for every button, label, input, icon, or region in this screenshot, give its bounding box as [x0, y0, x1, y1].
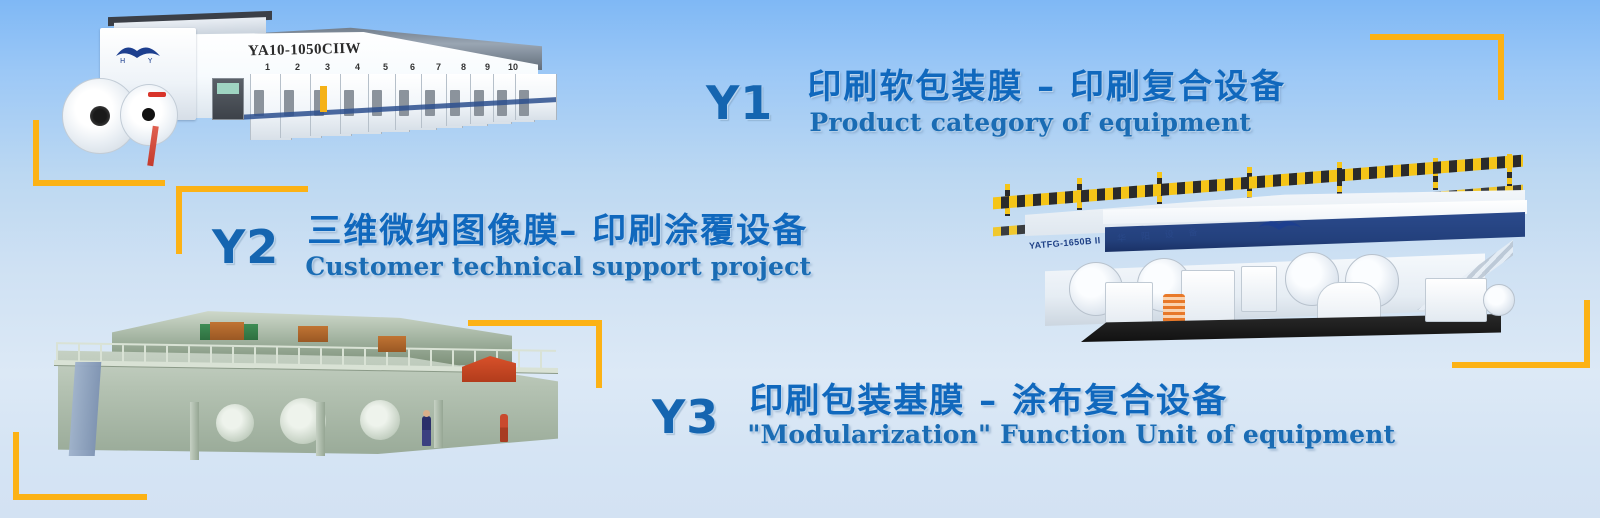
- bracket-mid-right-vertical: [1584, 300, 1590, 368]
- laminator-model-label: YATFG-1650B II: [1029, 235, 1101, 251]
- coater-operator-2: [500, 414, 508, 442]
- bracket-top-left-horizontal: [33, 180, 165, 186]
- coater-operator: [422, 416, 431, 446]
- row-y1-en-subtitle: Product category of equipment: [809, 110, 1286, 136]
- bracket-mid-right-horizontal: [1452, 362, 1590, 368]
- row-y3: Y3 印刷包装基膜 – 涂布复合设备 "Modularization" Func…: [652, 384, 1395, 448]
- bracket-y2-vertical: [176, 186, 182, 254]
- bracket-bottom-left-vertical: [13, 432, 19, 500]
- press-red-handle: [148, 92, 166, 97]
- machine-image-coater: [30, 306, 575, 496]
- bracket-top-right-horizontal: [1370, 34, 1504, 40]
- bracket-y3-vertical: [596, 320, 602, 388]
- press-model-label: YA10-1050CIIW: [248, 41, 361, 61]
- svg-text:H: H: [120, 57, 125, 64]
- row-y2-cn-title: 三维微纳图像膜– 印刷涂覆设备: [307, 214, 811, 250]
- bracket-y2-horizontal: [176, 186, 308, 192]
- row-y1-cn-title: 印刷软包装膜 – 印刷复合设备: [807, 70, 1286, 106]
- row-y2-en-subtitle: Customer technical support project: [305, 254, 811, 280]
- press-control-panel: [212, 78, 244, 120]
- machine-image-laminator: 华 阳 设 备 YATFG-1650B II: [985, 166, 1550, 362]
- svg-text:Y: Y: [147, 57, 153, 64]
- banner-root: 1 2 3 4 5 6 7 8 9 10 H Y YA10-1050CIIW: [0, 0, 1600, 518]
- row-y3-cn-title: 印刷包装基膜 – 涂布复合设备: [749, 384, 1395, 420]
- laminator-brand-icon: [1257, 216, 1303, 234]
- hy-logo-icon: H Y: [114, 42, 162, 64]
- laminator-orange-hose: [1163, 294, 1185, 324]
- row-y1: Y1 印刷软包装膜 – 印刷复合设备 Product category of e…: [706, 70, 1286, 136]
- row-y3-en-subtitle: "Modularization" Function Unit of equipm…: [747, 422, 1395, 448]
- row-y1-code: Y1: [706, 80, 773, 126]
- row-y3-code: Y3: [652, 394, 719, 440]
- bracket-top-right-vertical: [1498, 34, 1504, 100]
- machine-image-printing-press: 1 2 3 4 5 6 7 8 9 10 H Y YA10-1050CIIW: [62, 6, 592, 178]
- bracket-top-left-vertical: [33, 120, 39, 186]
- press-yellow-marker: [320, 86, 327, 112]
- row-y2: Y2 三维微纳图像膜– 印刷涂覆设备 Customer technical su…: [212, 214, 811, 280]
- row-y2-code: Y2: [212, 224, 279, 270]
